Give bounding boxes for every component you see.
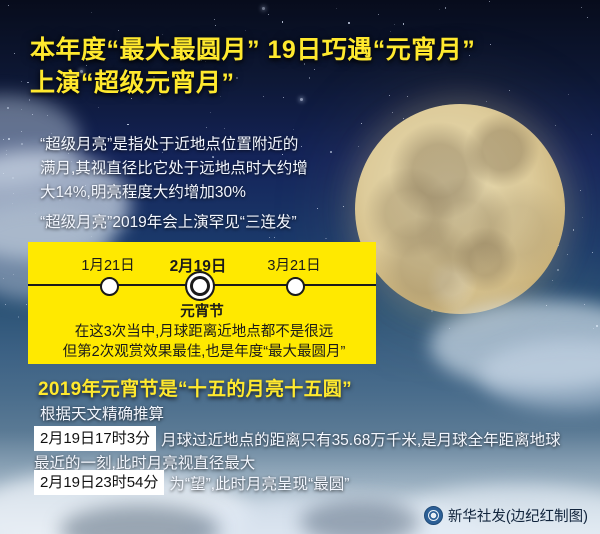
infographic-poster: 本年度“最大最圆月” 19日巧遇“元宵月” 上演“超级元宵月” “超级月亮”是指… <box>0 0 600 534</box>
poster-headline: 本年度“最大最圆月” 19日巧遇“元宵月” 上演“超级元宵月” <box>30 34 575 100</box>
fact-time-chip-1: 2月19日17时3分 <box>34 426 156 451</box>
timeline-panel: 1月21日 2月19日 3月21日 元宵节 在这3次当中,月球距离近地点都不是很… <box>28 242 376 364</box>
fact-row-2: 2月19日23时54分为“望”,此时月亮呈现“最圆” <box>34 470 574 496</box>
timeline-node-3 <box>286 277 305 296</box>
intro-paragraph-1: “超级月亮”是指处于近地点位置附近的 满月,其视直径比它处于远地点时大约增 大1… <box>40 133 360 205</box>
section-subheadline: 2019年元宵节是“十五的月亮十五圆” <box>38 374 352 401</box>
xinhua-logo-icon <box>424 506 443 525</box>
timeline-date-label-3: 3月21日 <box>256 254 332 275</box>
fact-text-2: 为“望”,此时月亮呈现“最圆” <box>169 476 349 493</box>
timeline-node-2-highlighted <box>185 271 215 301</box>
cloud-right-lower <box>480 340 600 410</box>
timeline-date-label-1: 1月21日 <box>68 254 148 275</box>
festival-label: 元宵节 <box>28 300 376 321</box>
full-moon-image <box>355 104 565 314</box>
timeline-node-1 <box>100 277 119 296</box>
footer-credit-text: 新华社发(边纪红制图) <box>448 505 588 526</box>
fact-time-chip-2: 2月19日23时54分 <box>34 470 164 495</box>
fact-row-1: 2月19日17时3分月球过近地点的距离只有35.68万千米,是月球全年距离地球最… <box>34 426 574 475</box>
calculation-basis-label: 根据天文精确推算 <box>40 402 164 424</box>
footer-credit: 新华社发(边纪红制图) <box>424 505 588 526</box>
timeline-note: 在这3次当中,月球距离近地点都不是很远 但第2次观赏效果最佳,也是年度“最大最圆… <box>36 322 372 362</box>
intro-paragraph-2: “超级月亮”2019年会上演罕见“三连发” <box>40 211 370 235</box>
